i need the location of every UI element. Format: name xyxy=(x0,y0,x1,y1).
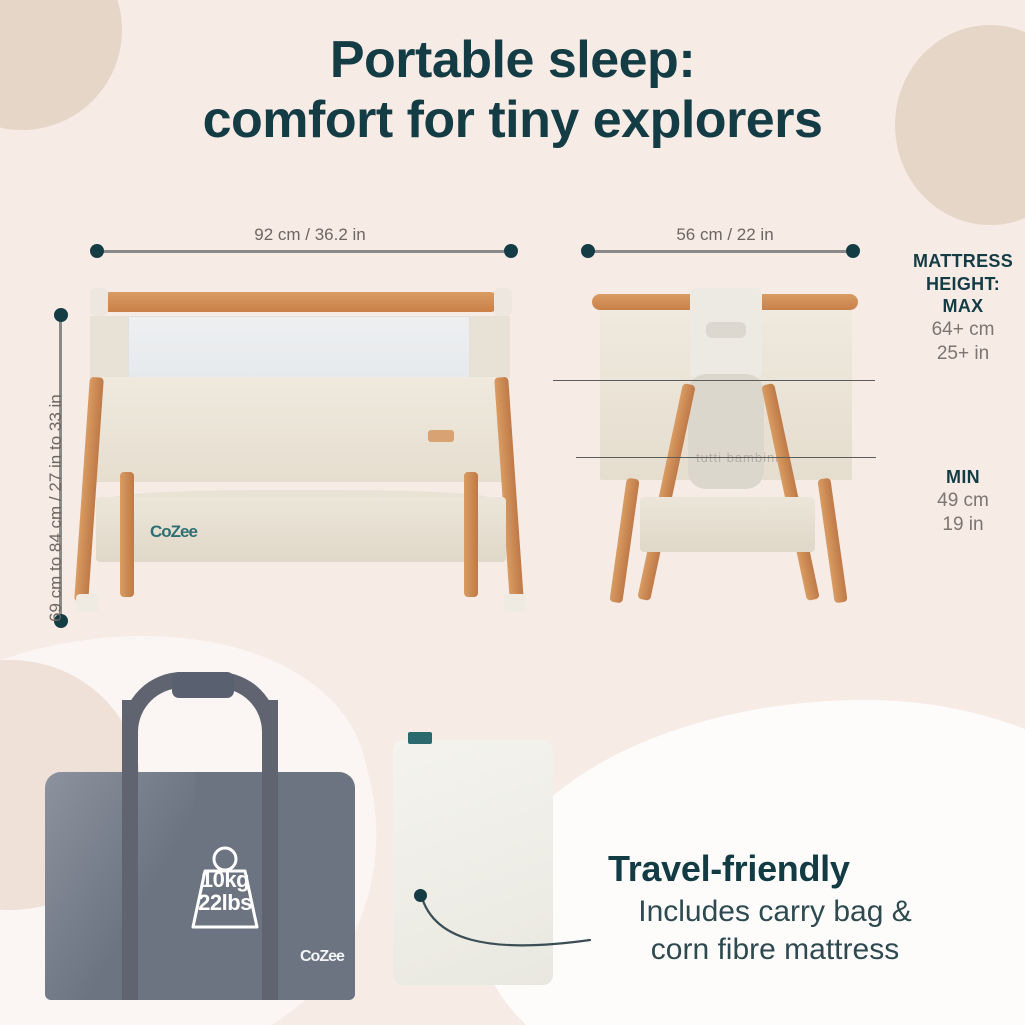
crib-side-leg-left-back xyxy=(609,478,639,604)
crib-front-view-image: CoZee xyxy=(60,282,540,642)
mattress-height-max-cm: 64+ cm xyxy=(878,318,1025,343)
callout-pointer-line xyxy=(400,880,600,970)
dimension-label-height: 69 cm to 84 cm / 27 in to 33 in xyxy=(46,394,66,622)
mattress-height-min-block: MIN 49 cm 19 in xyxy=(878,466,1025,538)
callout-pointer-dot xyxy=(414,889,427,902)
travel-friendly-sub-line2: corn fibre mattress xyxy=(585,931,965,969)
crib-side-storage-shelf xyxy=(640,497,815,552)
carry-bag-highlight xyxy=(45,772,195,1000)
dimension-endpoint-side-left xyxy=(581,244,595,258)
carry-bag-brand-logo: CoZee xyxy=(300,948,344,966)
crib-fabric-tab xyxy=(428,430,454,442)
crib-side-fabric-left xyxy=(90,316,130,386)
mattress-height-min-in: 19 in xyxy=(878,513,1025,538)
carry-bag-strap-left xyxy=(122,700,138,1000)
travel-friendly-sub-line1: Includes carry bag & xyxy=(585,893,965,931)
bag-weight-kg: 10kg xyxy=(175,868,275,891)
bag-weight-text: 10kg 22lbs xyxy=(175,868,275,914)
mattress-level-line-min xyxy=(576,457,876,458)
crib-side-fabric-right xyxy=(470,316,510,386)
dimension-endpoint-height-top xyxy=(54,308,68,322)
crib-leg-inner-right xyxy=(464,472,478,597)
crib-leg-inner-left xyxy=(120,472,134,597)
crib-side-leg-right-back xyxy=(817,478,847,604)
dimension-line-front-width xyxy=(97,250,517,253)
crib-leg-outer-left xyxy=(74,377,104,602)
dimension-endpoint-front-left xyxy=(90,244,104,258)
bag-weight-lbs: 22lbs xyxy=(175,891,275,914)
dimension-label-front-width: 92 cm / 36.2 in xyxy=(120,225,500,245)
page-title: Portable sleep: comfort for tiny explore… xyxy=(0,30,1025,151)
dimension-endpoint-front-right xyxy=(504,244,518,258)
carry-bag-handle-grip xyxy=(172,672,234,698)
mattress-height-title-line2: HEIGHT: xyxy=(878,273,1025,296)
mattress-brand-tag xyxy=(408,732,432,744)
mattress-height-title-line1: MATTRESS xyxy=(878,250,1025,273)
crib-top-rail xyxy=(100,292,500,312)
mattress-height-max-block: MATTRESS HEIGHT: MAX 64+ cm 25+ in xyxy=(878,250,1025,367)
mattress-height-max-in: 25+ in xyxy=(878,342,1025,367)
mattress-level-line-max xyxy=(553,380,875,381)
travel-friendly-subtitle: Includes carry bag & corn fibre mattress xyxy=(585,893,965,968)
dimension-endpoint-side-right xyxy=(846,244,860,258)
crib-center-column xyxy=(688,374,764,489)
crib-leg-outer-right xyxy=(494,377,524,602)
infographic-canvas: Portable sleep: comfort for tiny explore… xyxy=(0,0,1025,1025)
crib-foot-right xyxy=(504,594,526,612)
crib-adjust-handle xyxy=(706,322,746,338)
dimension-line-side-width xyxy=(588,250,853,253)
crib-rail-cap-left xyxy=(90,288,108,316)
crib-brand-logo-front: CoZee xyxy=(150,522,197,542)
mattress-height-min-label: MIN xyxy=(878,466,1025,489)
crib-rail-cap-right xyxy=(494,288,512,316)
headline-line-2: comfort for tiny explorers xyxy=(0,90,1025,150)
mattress-height-max-label: MAX xyxy=(878,295,1025,318)
dimension-label-side-width: 56 cm / 22 in xyxy=(590,225,860,245)
crib-foot-left xyxy=(76,594,98,612)
mattress-height-min-cm: 49 cm xyxy=(878,489,1025,514)
headline-line-1: Portable sleep: xyxy=(330,31,695,89)
crib-side-view-image: tutti bambini xyxy=(578,282,878,642)
travel-friendly-title: Travel-friendly xyxy=(608,848,850,890)
